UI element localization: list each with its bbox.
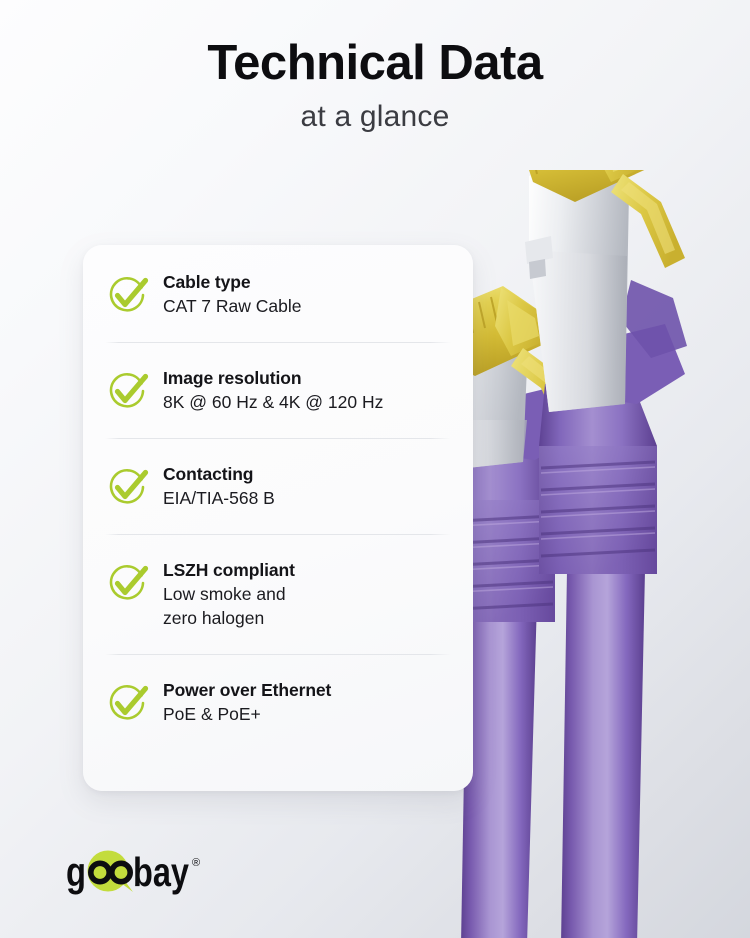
check-circle-icon <box>105 273 149 317</box>
feature-title: Power over Ethernet <box>163 680 331 700</box>
feature-item-power-over-ethernet: Power over Ethernet PoE & PoE+ <box>83 655 473 752</box>
svg-text:bay: bay <box>133 850 189 895</box>
registered-mark: ® <box>192 857 200 869</box>
feature-value: CAT 7 Raw Cable <box>163 295 301 318</box>
feature-title: Image resolution <box>163 368 301 388</box>
svg-text:g: g <box>66 850 86 895</box>
feature-item-image-resolution: Image resolution 8K @ 60 Hz & 4K @ 120 H… <box>83 343 473 438</box>
features-card: Cable type CAT 7 Raw Cable Image resolut… <box>83 245 473 791</box>
feature-title: LSZH compliant <box>163 560 295 580</box>
page-title: Technical Data <box>0 38 750 90</box>
feature-value: 8K @ 60 Hz & 4K @ 120 Hz <box>163 391 383 414</box>
header: Technical Data at a glance <box>0 0 750 134</box>
feature-item-cable-type: Cable type CAT 7 Raw Cable <box>83 245 473 342</box>
check-circle-icon <box>105 369 149 413</box>
feature-value: PoE & PoE+ <box>163 703 331 726</box>
check-circle-icon <box>105 561 149 605</box>
check-circle-icon <box>105 681 149 725</box>
check-circle-icon <box>105 465 149 509</box>
page-subtitle: at a glance <box>0 100 750 134</box>
feature-item-lszh-compliant: LSZH compliant Low smoke and zero haloge… <box>83 535 473 653</box>
infographic-page: Technical Data at a glance <box>0 0 750 938</box>
feature-value: EIA/TIA-568 B <box>163 487 275 510</box>
goobay-logo: g bay ® <box>50 850 225 896</box>
feature-value: Low smoke and zero halogen <box>163 583 295 630</box>
feature-item-contacting: Contacting EIA/TIA-568 B <box>83 439 473 534</box>
feature-title: Contacting <box>163 464 253 484</box>
feature-title: Cable type <box>163 272 251 292</box>
